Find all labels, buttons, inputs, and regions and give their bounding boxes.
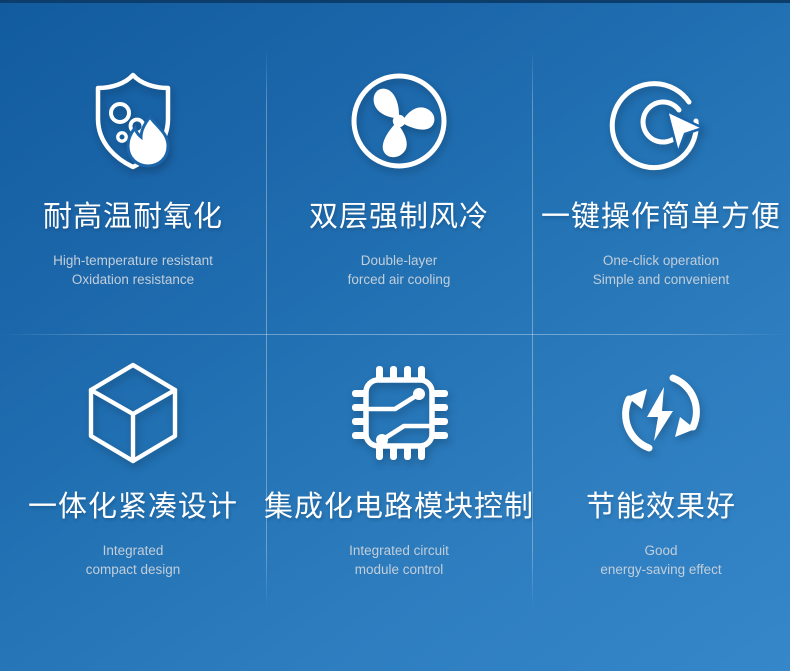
feature-banner: 耐高温耐氧化 High-temperature resistant Oxidat… bbox=[0, 0, 790, 671]
feature-subtitle: Double-layer forced air cooling bbox=[348, 251, 451, 290]
feature-subtitle: Integrated compact design bbox=[86, 541, 181, 580]
feature-title: 双层强制风冷 bbox=[309, 202, 489, 234]
feature-subtitle-line2: Simple and convenient bbox=[593, 270, 730, 290]
energy-recycle-icon bbox=[611, 354, 711, 472]
feature-cell-integrated-circuit: 集成化电路模块控制 Integrated circuit module cont… bbox=[266, 334, 532, 671]
feature-cell-energy-saving: 节能效果好 Good energy-saving effect bbox=[532, 334, 790, 671]
feature-title: 一体化紧凑设计 bbox=[28, 492, 238, 524]
click-cursor-icon bbox=[611, 62, 711, 180]
feature-subtitle: One-click operation Simple and convenien… bbox=[593, 251, 730, 290]
feature-subtitle-line2: module control bbox=[349, 560, 449, 580]
feature-cell-one-click-operation: 一键操作简单方便 One-click operation Simple and … bbox=[532, 0, 790, 334]
cube-icon bbox=[86, 354, 180, 472]
feature-cell-forced-air-cooling: 双层强制风冷 Double-layer forced air cooling bbox=[266, 0, 532, 334]
feature-subtitle: Integrated circuit module control bbox=[349, 541, 449, 580]
feature-title: 一键操作简单方便 bbox=[541, 202, 781, 234]
shield-flame-icon bbox=[87, 62, 179, 180]
feature-subtitle-line1: One-click operation bbox=[593, 251, 730, 271]
feature-cell-high-temperature: 耐高温耐氧化 High-temperature resistant Oxidat… bbox=[0, 0, 266, 334]
feature-subtitle: Good energy-saving effect bbox=[600, 541, 721, 580]
feature-subtitle-line1: High-temperature resistant bbox=[53, 251, 213, 271]
feature-subtitle-line1: Good bbox=[600, 541, 721, 561]
feature-title: 节能效果好 bbox=[586, 492, 736, 524]
feature-cell-compact-design: 一体化紧凑设计 Integrated compact design bbox=[0, 334, 266, 671]
feature-subtitle-line2: energy-saving effect bbox=[600, 560, 721, 580]
feature-title: 集成化电路模块控制 bbox=[264, 492, 534, 524]
feature-subtitle-line2: Oxidation resistance bbox=[53, 270, 213, 290]
feature-subtitle-line1: Integrated bbox=[86, 541, 181, 561]
fan-icon bbox=[350, 62, 448, 180]
feature-subtitle-line1: Integrated circuit bbox=[349, 541, 449, 561]
feature-subtitle: High-temperature resistant Oxidation res… bbox=[53, 251, 213, 290]
top-accent-strip bbox=[0, 0, 790, 3]
feature-subtitle-line2: compact design bbox=[86, 560, 181, 580]
feature-grid: 耐高温耐氧化 High-temperature resistant Oxidat… bbox=[0, 0, 790, 671]
feature-subtitle-line2: forced air cooling bbox=[348, 270, 451, 290]
feature-subtitle-line1: Double-layer bbox=[348, 251, 451, 271]
chip-icon bbox=[350, 354, 448, 472]
feature-title: 耐高温耐氧化 bbox=[43, 202, 223, 234]
